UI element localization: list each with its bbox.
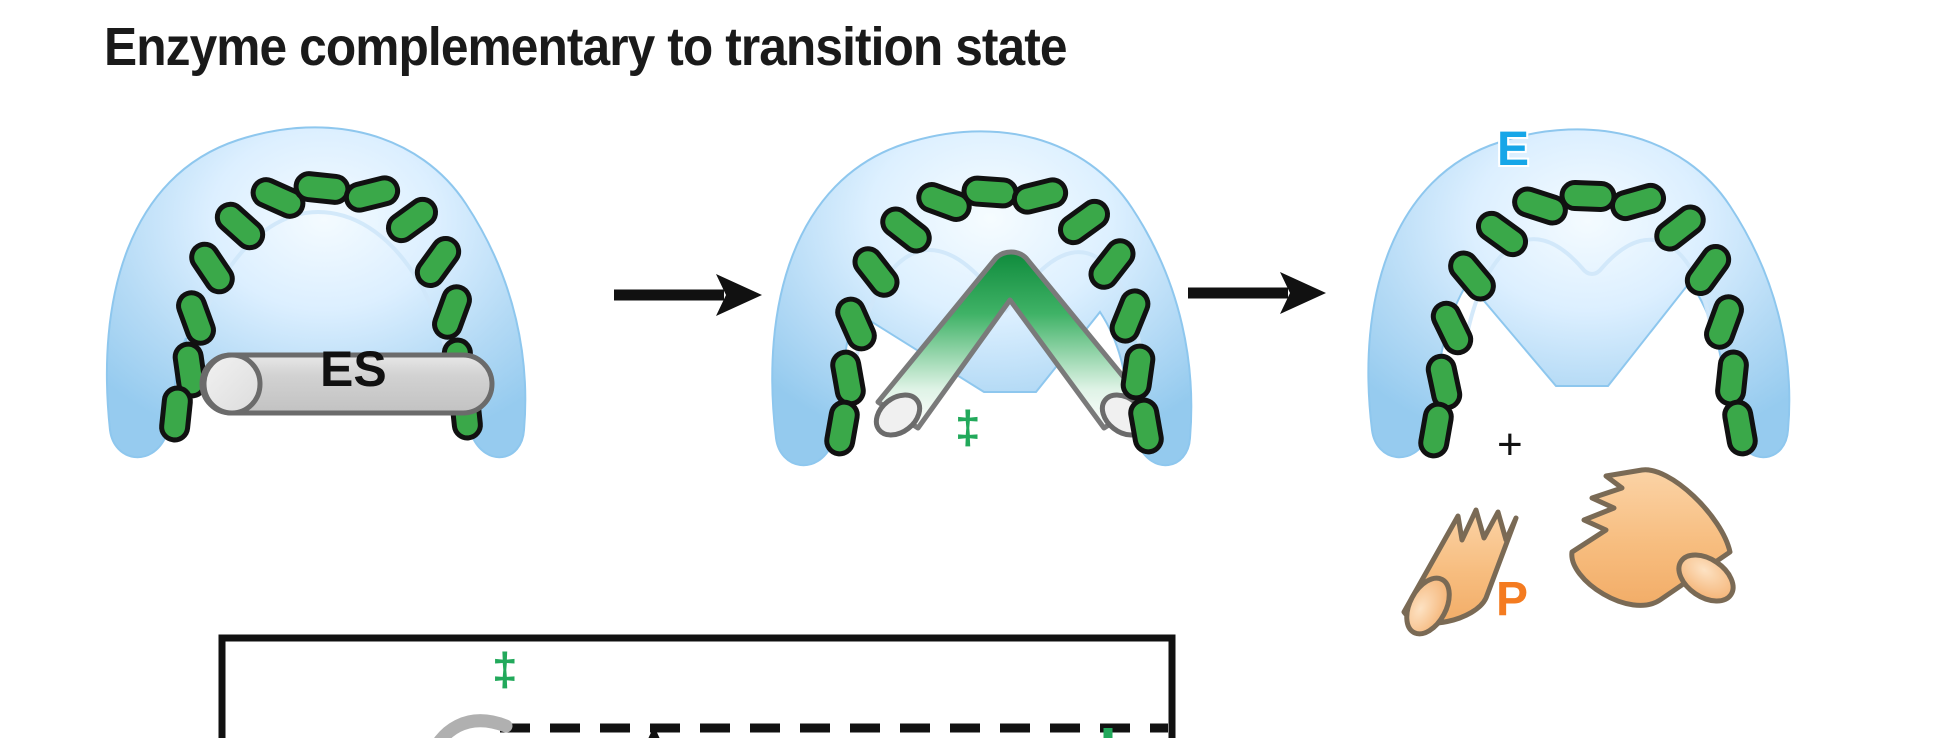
label-es: ES: [320, 340, 387, 398]
label-double-dagger-transition-state: ‡: [955, 400, 981, 454]
panel-transition-state: [772, 131, 1191, 465]
energy-diagram-inset: [222, 638, 1172, 738]
product-fragment-right: [1572, 470, 1742, 611]
panel-free-enzyme: [1368, 129, 1789, 641]
arrow-ts-to-ep: [1188, 272, 1326, 314]
arrow-es-to-ts: [614, 274, 762, 316]
label-e-free-enzyme: E: [1497, 122, 1529, 177]
panel-enzyme-substrate: [107, 127, 525, 457]
figure-canvas: Enzyme complementary to transition state: [0, 0, 1956, 738]
diagram-svg: [0, 0, 1956, 738]
label-p-products: P: [1496, 572, 1528, 627]
label-plus-symbol: +: [1497, 420, 1523, 470]
label-double-dagger-energy-diagram: ‡: [492, 642, 518, 696]
